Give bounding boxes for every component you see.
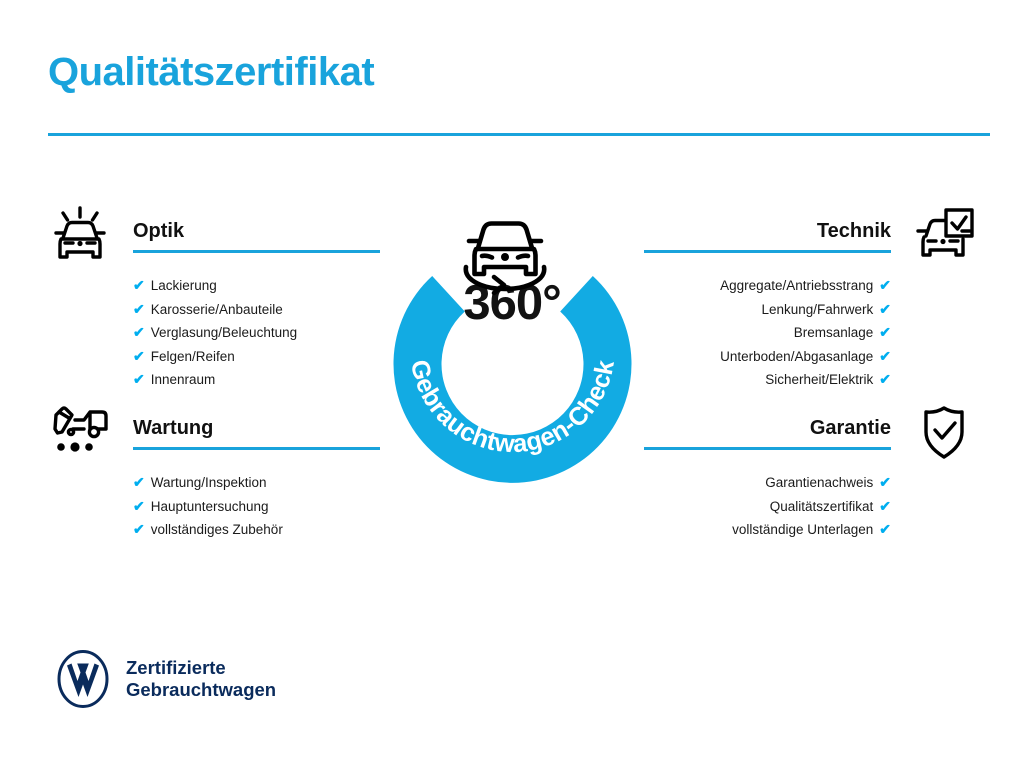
checklist-garantie: Garantienachweis✔ Qualitätszertifikat✔ v… bbox=[644, 462, 976, 542]
car-checkbox-icon bbox=[912, 205, 976, 267]
list-item: Garantienachweis✔ bbox=[644, 471, 891, 495]
section-divider-technik bbox=[644, 250, 891, 253]
list-item-label: Sicherheit/Elektrik bbox=[765, 369, 873, 392]
list-item-label: Hauptuntersuchung bbox=[151, 496, 269, 519]
section-wartung: Wartung ✔Wartung/Inspektion ✔Hauptunters… bbox=[48, 402, 380, 542]
checklist-technik: Aggregate/Antriebsstrang✔ Lenkung/Fahrwe… bbox=[644, 265, 976, 392]
section-title-wartung: Wartung bbox=[133, 417, 213, 440]
header-divider bbox=[48, 133, 990, 136]
check-icon: ✔ bbox=[879, 368, 891, 391]
check-icon: ✔ bbox=[879, 345, 891, 368]
check-icon: ✔ bbox=[133, 471, 145, 494]
list-item: ✔vollständiges Zubehör bbox=[133, 518, 380, 542]
section-divider-garantie bbox=[644, 447, 891, 450]
list-item: Bremsanlage✔ bbox=[644, 321, 891, 345]
footer-logo: Zertifizierte Gebrauchtwagen bbox=[54, 650, 276, 708]
section-divider-wartung bbox=[133, 447, 380, 450]
list-item: Sicherheit/Elektrik✔ bbox=[644, 368, 891, 392]
section-title-technik: Technik bbox=[817, 220, 891, 243]
check-icon: ✔ bbox=[879, 274, 891, 297]
list-item: ✔Innenraum bbox=[133, 368, 380, 392]
list-item-label: Aggregate/Antriebsstrang bbox=[720, 275, 873, 298]
list-item-label: Bremsanlage bbox=[794, 322, 874, 345]
page-title: Qualitätszertifikat bbox=[48, 50, 374, 94]
list-item: Lenkung/Fahrwerk✔ bbox=[644, 298, 891, 322]
check-icon: ✔ bbox=[879, 321, 891, 344]
check-icon: ✔ bbox=[879, 518, 891, 541]
footer-logo-line1: Zertifizierte bbox=[126, 657, 226, 678]
list-item-label: Felgen/Reifen bbox=[151, 346, 235, 369]
list-item: ✔Verglasung/Beleuchtung bbox=[133, 321, 380, 345]
pencil-car-service-icon bbox=[48, 402, 112, 464]
list-item: ✔Felgen/Reifen bbox=[133, 345, 380, 369]
check-icon: ✔ bbox=[879, 471, 891, 494]
list-item-label: vollständige Unterlagen bbox=[732, 519, 873, 542]
qualitaetszertifikat-page: { "header": { "title": "Qualitätszertifi… bbox=[0, 0, 1024, 768]
list-item: vollständige Unterlagen✔ bbox=[644, 518, 891, 542]
check-icon: ✔ bbox=[133, 518, 145, 541]
check-icon: ✔ bbox=[133, 321, 145, 344]
section-garantie: Garantie Garantienachweis✔ Qualitätszert… bbox=[644, 402, 976, 542]
list-item: Unterboden/Abgasanlage✔ bbox=[644, 345, 891, 369]
check-icon: ✔ bbox=[133, 495, 145, 518]
checklist-optik: ✔Lackierung ✔Karosserie/Anbauteile ✔Verg… bbox=[48, 265, 380, 392]
section-technik: Technik Aggregate/Antriebsstrang✔ Lenkun… bbox=[644, 205, 976, 392]
list-item-label: Innenraum bbox=[151, 369, 216, 392]
car-front-shine-icon bbox=[48, 205, 112, 267]
list-item-label: Verglasung/Beleuchtung bbox=[151, 322, 297, 345]
section-title-garantie: Garantie bbox=[810, 417, 891, 440]
check-icon: ✔ bbox=[879, 298, 891, 321]
list-item: ✔Hauptuntersuchung bbox=[133, 495, 380, 519]
list-item: ✔Wartung/Inspektion bbox=[133, 471, 380, 495]
list-item: Aggregate/Antriebsstrang✔ bbox=[644, 274, 891, 298]
section-header-wartung: Wartung bbox=[48, 402, 380, 462]
volkswagen-logo-icon bbox=[54, 650, 112, 708]
list-item: Qualitätszertifikat✔ bbox=[644, 495, 891, 519]
list-item-label: vollständiges Zubehör bbox=[151, 519, 283, 542]
check-icon: ✔ bbox=[879, 495, 891, 518]
360-check-badge: Gebrauchtwagen-Check 360° bbox=[370, 200, 655, 490]
check-icon: ✔ bbox=[133, 345, 145, 368]
check-icon: ✔ bbox=[133, 368, 145, 391]
section-header-technik: Technik bbox=[644, 205, 976, 265]
list-item-label: Lenkung/Fahrwerk bbox=[761, 299, 873, 322]
list-item-label: Unterboden/Abgasanlage bbox=[720, 346, 873, 369]
section-divider-optik bbox=[133, 250, 380, 253]
shield-check-icon bbox=[912, 402, 976, 464]
list-item-label: Wartung/Inspektion bbox=[151, 472, 267, 495]
section-header-garantie: Garantie bbox=[644, 402, 976, 462]
list-item-label: Garantienachweis bbox=[765, 472, 873, 495]
list-item: ✔Lackierung bbox=[133, 274, 380, 298]
section-optik: Optik ✔Lackierung ✔Karosserie/Anbauteile… bbox=[48, 205, 380, 392]
footer-logo-line2: Gebrauchtwagen bbox=[126, 679, 276, 700]
footer-logo-text: Zertifizierte Gebrauchtwagen bbox=[126, 657, 276, 701]
check-icon: ✔ bbox=[133, 298, 145, 321]
list-item: ✔Karosserie/Anbauteile bbox=[133, 298, 380, 322]
list-item-label: Qualitätszertifikat bbox=[770, 496, 874, 519]
checklist-wartung: ✔Wartung/Inspektion ✔Hauptuntersuchung ✔… bbox=[48, 462, 380, 542]
check-icon: ✔ bbox=[133, 274, 145, 297]
section-title-optik: Optik bbox=[133, 220, 184, 243]
list-item-label: Karosserie/Anbauteile bbox=[151, 299, 283, 322]
list-item-label: Lackierung bbox=[151, 275, 217, 298]
section-header-optik: Optik bbox=[48, 205, 380, 265]
